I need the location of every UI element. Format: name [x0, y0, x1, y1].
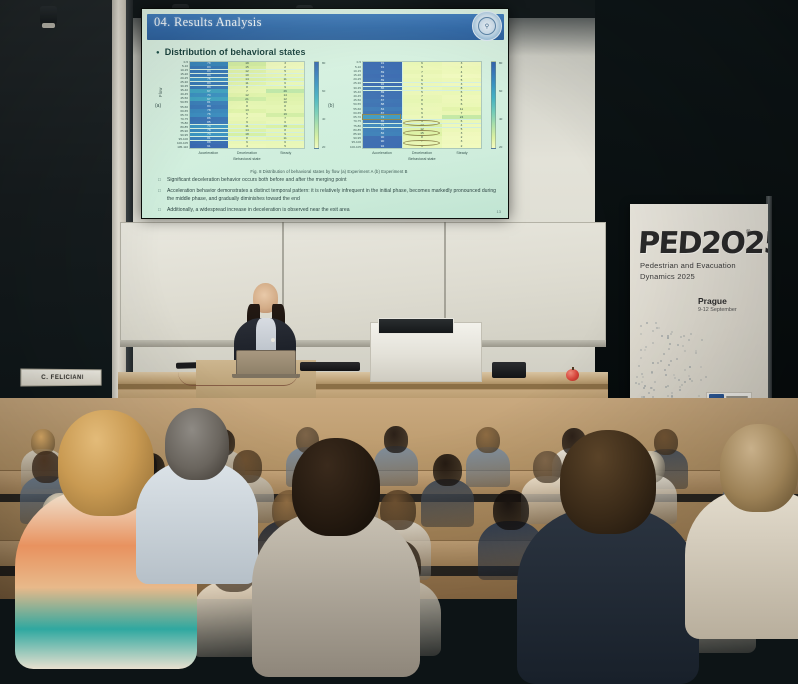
banner-dot: [658, 327, 660, 329]
whiteboard-rail: [120, 340, 606, 347]
spotlight-icon: [40, 6, 57, 26]
banner-dot: [644, 349, 646, 351]
audience-member-torso: [685, 489, 798, 639]
banner-dot: [665, 386, 667, 388]
banner-dot: [673, 374, 675, 376]
presentation-slide: 04. Results Analysis ⚲ Distribution of b…: [142, 9, 508, 218]
colorbar-tick: 20: [499, 145, 508, 149]
heatmap-column: 325711692614121089197616891165: [266, 62, 304, 148]
heatmap-column: 1915121014118712219813579111418864: [228, 62, 266, 148]
banner-dot: [636, 376, 638, 378]
audience-member-head: [654, 429, 678, 456]
banner-dot: [638, 365, 640, 367]
banner-dot: [657, 362, 659, 364]
banner-dot: [688, 339, 690, 341]
heatmap-cell: 4: [228, 144, 266, 148]
audience-member-head: [384, 426, 408, 453]
banner-dot: [640, 333, 642, 335]
banner-dot: [667, 385, 669, 387]
heatmap-column: 657465657865649171215876: [403, 62, 442, 148]
audience-member-head: [292, 438, 380, 536]
colorbar-ticks-b: 80604020: [499, 61, 508, 149]
banner-dot: [638, 383, 640, 385]
banner-dot: [668, 364, 670, 366]
banner-dot: [695, 352, 697, 354]
colorbar-b: [491, 61, 496, 149]
banner-dot: [667, 395, 669, 397]
banner-dot: [689, 366, 691, 368]
banner-dot: [691, 380, 693, 382]
banner-dates: 9-12 September: [698, 307, 737, 313]
banner-dot: [676, 358, 678, 360]
apple: [566, 369, 579, 381]
heatmap-grid-b: 9191899489928689898788848772857983829090…: [362, 61, 482, 149]
banner-city: Prague: [698, 296, 727, 306]
audience-member-head: [476, 427, 500, 454]
banner-dot: [700, 379, 702, 381]
banner-dot: [680, 336, 682, 338]
lecture-hall-photo: 04. Results Analysis ⚲ Distribution of b…: [0, 0, 798, 599]
banner-dot: [698, 395, 700, 397]
heatmap-column: 7883838375838367746781847876868573787381…: [190, 62, 228, 148]
banner-dot: [654, 381, 656, 383]
heatmap-column: 9191899489928689898788848772857983829090…: [363, 62, 402, 148]
desk-equipment: [300, 362, 360, 371]
banner-dot: [667, 335, 669, 337]
banner-dot: [664, 369, 666, 371]
university-seal-logo: ⚲: [472, 11, 502, 41]
banner-dot: [641, 373, 643, 375]
banner-dot: [665, 374, 667, 376]
banner-dot: [670, 333, 672, 335]
banner-dot: [681, 384, 683, 386]
audience-member-head: [533, 451, 562, 483]
nameplate-text: C. FELICIANI: [41, 374, 83, 380]
y-axis-title-a: Flow: [158, 87, 163, 97]
heatmap-grid-a: 7883838375838367746781847876868573787381…: [189, 61, 305, 149]
slide-notes-list: Significant deceleration behavior occurs…: [158, 177, 498, 218]
banner-dot: [667, 337, 669, 339]
colorbar-a: [314, 61, 319, 149]
banner-dot: [648, 392, 650, 394]
heatmap-cell: 6: [403, 144, 442, 148]
audience-member-head: [32, 451, 61, 483]
banner-dot: [646, 322, 648, 324]
whiteboard: [120, 222, 606, 344]
heatmap-cell: 2: [442, 144, 481, 148]
banner-dot: [651, 387, 653, 389]
banner-dot: [640, 357, 642, 359]
slide-note-item: Acceleration behavior demonstrates a dis…: [158, 188, 498, 203]
banner-dot: [679, 389, 681, 391]
banner-dot: [642, 376, 644, 378]
banner-dot: [683, 335, 685, 337]
heatmap-column: 34425386456117246453232: [442, 62, 481, 148]
colorbar-tick: 60: [499, 89, 508, 93]
x-axis-title-b: Behavioral state: [362, 157, 482, 161]
banner-dot: [701, 339, 703, 341]
banner-dot: [689, 378, 691, 380]
banner-dot: [684, 381, 686, 383]
nameplate: C. FELICIANI: [20, 369, 101, 387]
banner-subtitle: Pedestrian and Evacuation Dynamics 2025: [640, 260, 758, 282]
banner-dot: [684, 350, 686, 352]
audience-member-head: [165, 408, 229, 480]
seal-inner-emblem: ⚲: [478, 17, 496, 35]
banner-dot: [705, 376, 707, 378]
banner-dot: [679, 386, 681, 388]
audience-member-head: [493, 490, 529, 530]
projection-screen: 04. Results Analysis ⚲ Distribution of b…: [141, 8, 509, 219]
banner-dot: [661, 335, 663, 337]
banner-dot: [652, 362, 654, 364]
heatmap-figure-b: (b) 0-55-1010-1515-2020-2525-3030-3535-4…: [328, 59, 500, 167]
banner-dot: [668, 348, 670, 350]
audience-member-head: [433, 454, 462, 486]
heatmap-cell: 5: [266, 144, 304, 148]
banner-dot: [678, 379, 680, 381]
presenter-badge: [271, 338, 275, 342]
banner-dot: [700, 366, 702, 368]
banner-dot: [652, 330, 654, 332]
banner-dot: [652, 342, 654, 344]
heatmap-cell: 92: [363, 144, 402, 148]
audience-member-head: [720, 424, 798, 512]
panel-label-b: (b): [328, 103, 334, 109]
x-axis-title-a: Behavioral state: [189, 157, 305, 161]
colorbar-tick: 40: [499, 117, 508, 121]
confidence-monitor: [378, 318, 454, 334]
banner-dot: [684, 369, 686, 371]
banner-dot: [677, 344, 679, 346]
banner-dot: [645, 346, 647, 348]
banner-dot: [640, 349, 642, 351]
banner-dot: [644, 385, 646, 387]
audience-member-head: [560, 430, 656, 534]
slide-title: 04. Results Analysis: [154, 15, 262, 30]
banner-dot: [669, 343, 671, 345]
banner-dot: [655, 322, 657, 324]
left-dark-wall: [0, 0, 118, 400]
banner-dot: [674, 377, 676, 379]
banner-dot: [651, 372, 653, 374]
registered-mark: ®: [746, 230, 750, 236]
av-equipment: [492, 362, 526, 378]
slide-note-item: Significant deceleration behavior occurs…: [158, 177, 498, 185]
y-tick-label: 105-110: [164, 145, 188, 149]
figure-caption: Fig. 8 Distribution of behavioral states…: [160, 169, 498, 174]
banner-dot: [643, 387, 645, 389]
slide-section-heading: Distribution of behavioral states: [156, 47, 306, 57]
banner-dot: [671, 392, 673, 394]
y-tick-labels-b: 0-55-1010-1515-2020-2525-3030-3535-4040-…: [337, 61, 361, 149]
banner-dot: [690, 333, 692, 335]
banner-dot: [653, 389, 655, 391]
slide-number: 13: [497, 209, 501, 214]
banner-dot: [682, 345, 684, 347]
banner-dot: [641, 381, 643, 383]
banner-dot: [660, 360, 662, 362]
heatmap-cell: 91: [190, 144, 228, 148]
banner-dot: [670, 360, 672, 362]
banner-dot: [635, 382, 637, 384]
y-tick-label: 100-105: [337, 145, 361, 149]
desk-cable: [178, 372, 298, 386]
banner-dot: [663, 353, 665, 355]
colorbar-tick: 80: [499, 61, 508, 65]
banner-dot: [688, 375, 690, 377]
heatmap-figure-a: (a) Flow 0-55-1010-1515-2020-2525-3030-3…: [155, 59, 323, 167]
banner-dot: [640, 325, 642, 327]
slide-note-item: Additionally, a widespread increase in d…: [158, 207, 498, 215]
panel-label-a: (a): [155, 103, 161, 109]
y-tick-labels-a: 0-55-1010-1515-2020-2525-3030-3535-4040-…: [164, 61, 188, 149]
